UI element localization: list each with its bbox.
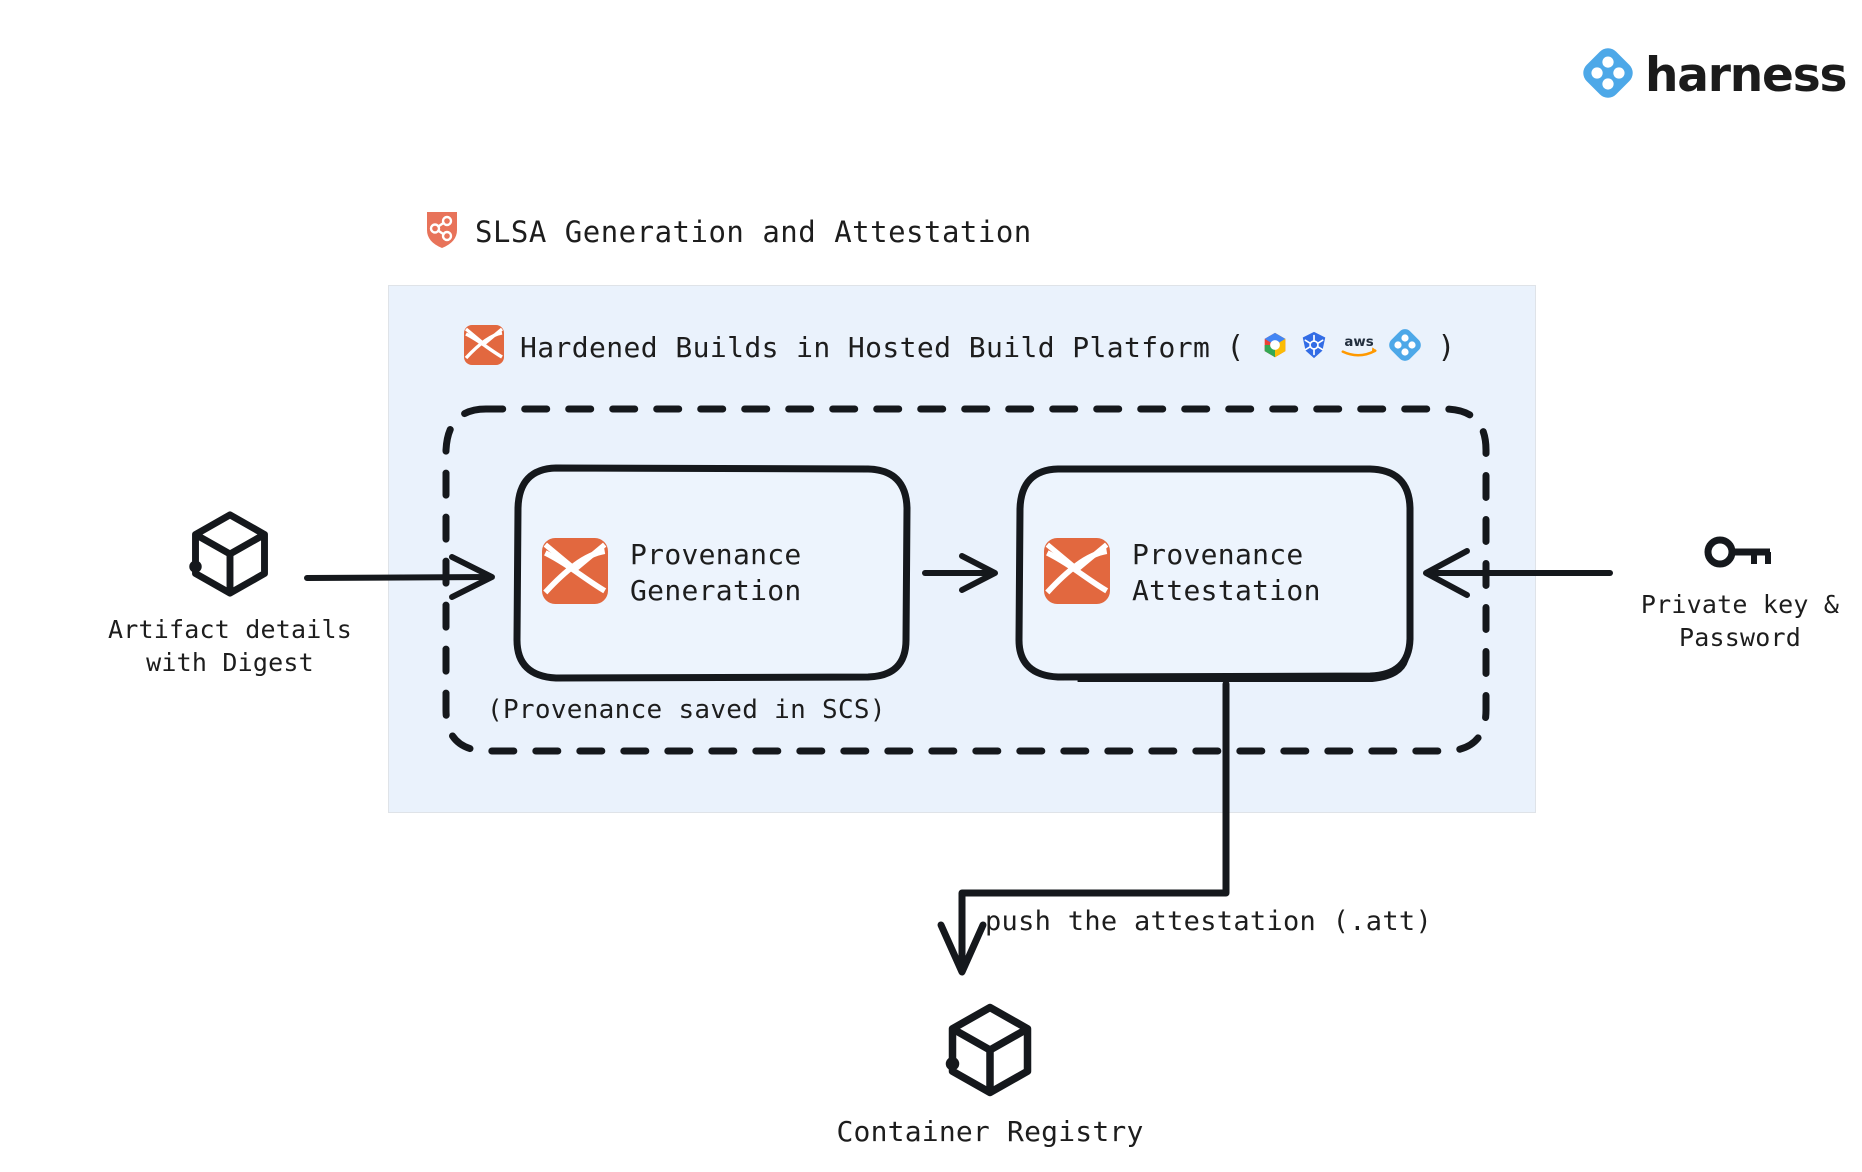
harness-diamond-icon <box>1389 329 1421 365</box>
harness-wordmark: harness <box>1645 52 1846 99</box>
private-key-caption: Private key & Password <box>1625 589 1855 654</box>
google-cloud-icon <box>1260 330 1290 364</box>
kubernetes-icon <box>1299 330 1329 364</box>
page-title: SLSA Generation and Attestation <box>475 215 1032 249</box>
harness-diamond-icon <box>1583 48 1633 102</box>
svg-text:aws: aws <box>1345 335 1374 350</box>
container-registry-caption: Container Registry <box>820 1114 1160 1150</box>
container-registry-node: Container Registry <box>820 1000 1160 1150</box>
step-provenance-attestation[interactable]: Provenance Attestation <box>1014 464 1416 682</box>
harness-logo-icon <box>464 325 504 369</box>
step-provenance-generation[interactable]: Provenance Generation <box>512 464 912 682</box>
slsa-shield-icon <box>425 210 459 254</box>
harness-logo-icon <box>1044 538 1110 608</box>
platform-icon-group: aws <box>1260 329 1421 365</box>
private-key-node: Private key & Password <box>1625 535 1855 654</box>
close-paren: ) <box>1437 330 1455 365</box>
panel-heading-label: Hardened Builds in Hosted Build Platform <box>520 331 1210 364</box>
push-attestation-label: push the attestation (.att) <box>985 906 1432 937</box>
section-title: SLSA Generation and Attestation <box>425 210 1032 254</box>
harness-brand-logo: harness <box>1583 48 1846 102</box>
diagram-canvas: harness SLSA Generation and Attestation … <box>0 0 1862 1172</box>
panel-heading: Hardened Builds in Hosted Build Platform… <box>464 325 1455 369</box>
cube-icon <box>184 585 276 604</box>
artifact-caption: Artifact details with Digest <box>96 614 364 679</box>
artifact-node: Artifact details with Digest <box>96 508 364 679</box>
harness-logo-icon <box>542 538 608 608</box>
step-label: Provenance Generation <box>630 537 802 609</box>
key-icon <box>1702 560 1778 579</box>
cube-icon <box>940 1085 1040 1104</box>
aws-icon: aws <box>1338 330 1380 364</box>
step-label: Provenance Attestation <box>1132 537 1321 609</box>
provenance-storage-note: (Provenance saved in SCS) <box>487 695 886 725</box>
open-paren: ( <box>1226 330 1244 365</box>
